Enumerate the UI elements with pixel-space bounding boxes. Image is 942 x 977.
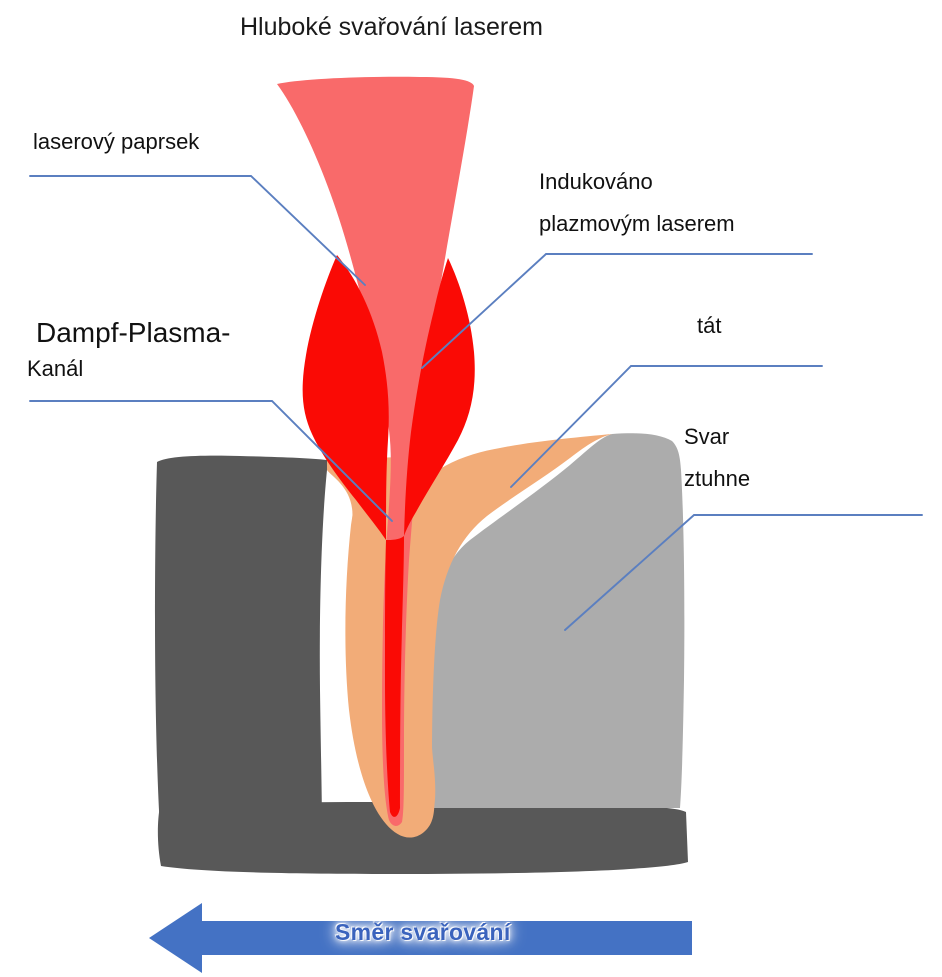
label-vapor-channel-line1: Dampf-Plasma- — [36, 318, 230, 348]
leader-laser-beam — [30, 176, 365, 285]
label-weld-line1: Svar — [684, 425, 729, 449]
label-laser-beam: laserový paprsek — [33, 130, 199, 154]
label-melt: tát — [697, 314, 721, 338]
leader-induced-plasma — [422, 254, 812, 368]
diagram-canvas: Hluboké svařování laserem laserový paprs… — [0, 0, 942, 977]
direction-arrow-label: Směr svařování — [335, 919, 511, 946]
label-vapor-channel-line2: Kanál — [27, 357, 83, 381]
label-induced-plasma-line2: plazmovým laserem — [539, 212, 735, 236]
page-title: Hluboké svařování laserem — [240, 14, 543, 41]
label-weld-line2: ztuhne — [684, 467, 750, 491]
label-induced-plasma-line1: Indukováno — [539, 170, 653, 194]
